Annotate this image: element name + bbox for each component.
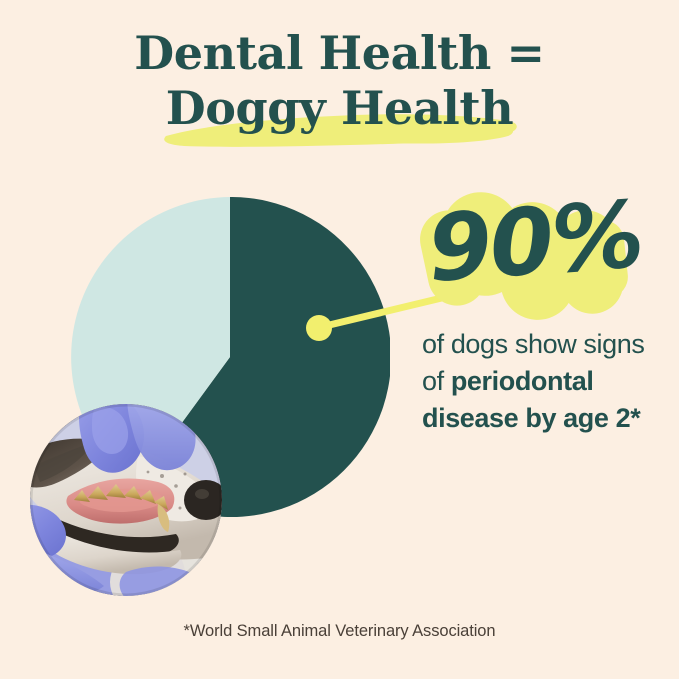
- title-line-2: Doggy Health: [0, 81, 679, 136]
- callout-body-bold: periodontal disease by age 2*: [422, 366, 640, 433]
- dog-dental-photo: [30, 404, 222, 596]
- title-line-1: Dental Health =: [0, 26, 679, 81]
- photo-content: [30, 404, 222, 596]
- page-title: Dental Health = Doggy Health: [0, 26, 679, 136]
- footnote-source: *World Small Animal Veterinary Associati…: [0, 622, 679, 641]
- percent-callout: 90%: [418, 186, 658, 321]
- callout-body-text: of dogs show signs of periodontal diseas…: [422, 326, 658, 437]
- infographic-canvas: Dental Health = Doggy Health 90%: [0, 0, 679, 679]
- percent-value: 90%: [424, 177, 646, 308]
